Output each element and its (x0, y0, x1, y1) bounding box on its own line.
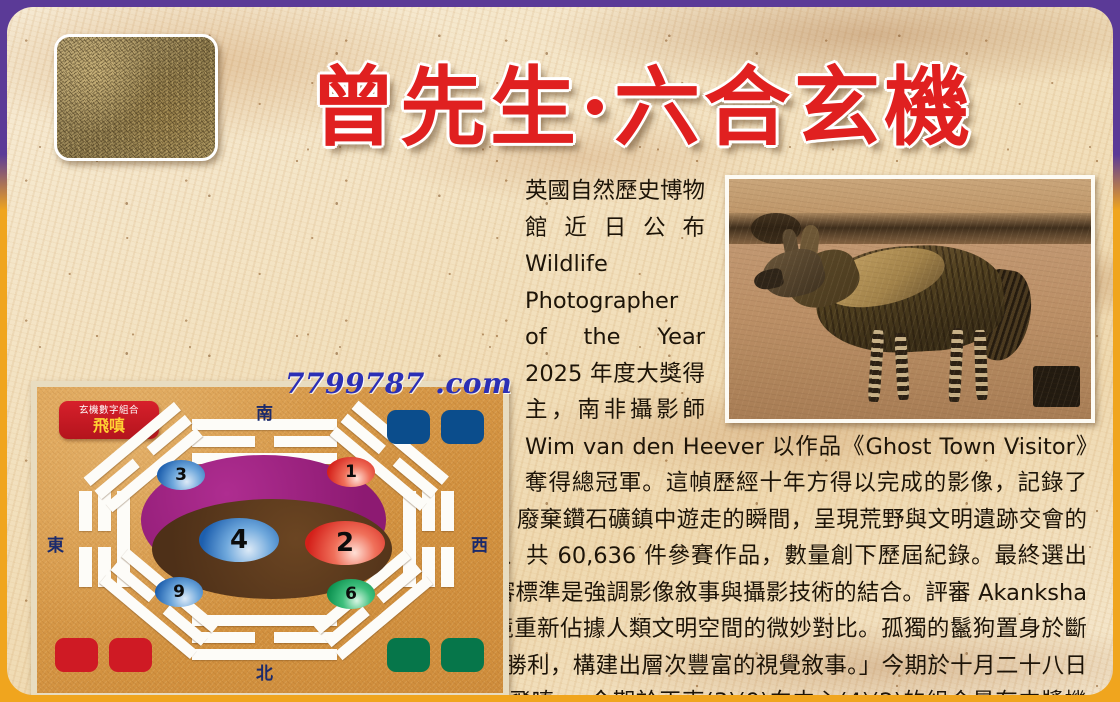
bagua-diagram: 玄機數字組合 飛嗔 (31, 381, 509, 695)
number-bubble-4[interactable]: 4 (199, 518, 279, 562)
corner-block-blue (387, 410, 430, 444)
site-watermark: 7799787 .com (285, 367, 512, 400)
trigram-bar (441, 491, 454, 531)
combo-label-title: 玄機數字組合 (79, 406, 139, 416)
corner-block-blue (441, 410, 484, 444)
number-bubble-2[interactable]: 2 (305, 521, 385, 565)
page-title: 曾先生·六合玄機 (222, 45, 1062, 153)
number-bubble-9[interactable]: 9 (155, 577, 203, 607)
direction-label-east: 東 (47, 531, 64, 556)
trigram-bar (441, 547, 454, 587)
newspaper-page: 曾先生·六合玄機 英國自然歷史博物館近日公布 Wild (0, 0, 1120, 702)
parchment-panel: 曾先生·六合玄機 英國自然歷史博物館近日公布 Wild (7, 7, 1113, 695)
direction-label-south: 南 (256, 399, 273, 424)
trigram-bar (79, 547, 92, 587)
combo-label-value: 飛嗔 (93, 418, 125, 434)
corner-block-green (441, 638, 484, 672)
direction-label-west: 西 (471, 531, 488, 556)
number-bubble-6[interactable]: 6 (327, 579, 375, 609)
number-bubble-3[interactable]: 3 (157, 460, 205, 490)
direction-label-north: 北 (256, 659, 273, 684)
corner-block-red (109, 638, 152, 672)
corner-block-red (55, 638, 98, 672)
texture-thumbnail (54, 34, 218, 161)
photo-float-shim (705, 173, 1087, 419)
number-bubble-1[interactable]: 1 (327, 457, 375, 487)
trigram-bar (79, 491, 92, 531)
corner-block-green (387, 638, 430, 672)
